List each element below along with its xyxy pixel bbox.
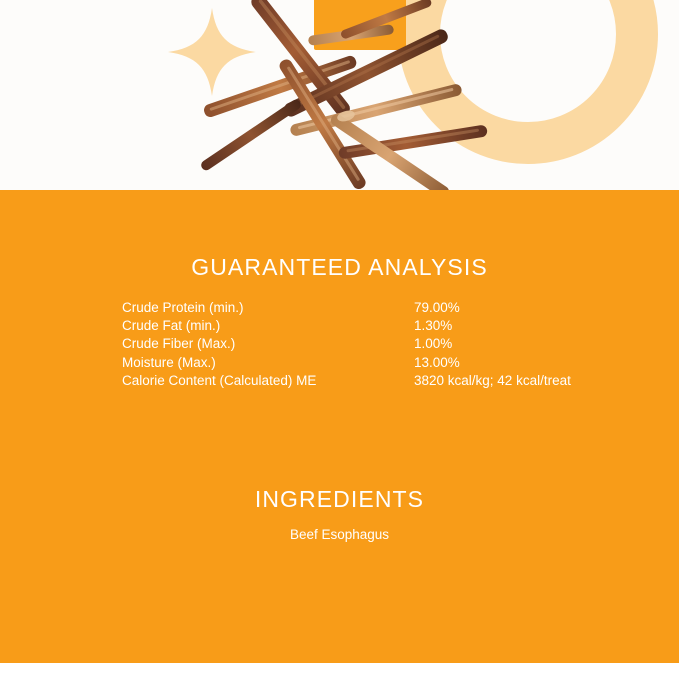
ingredients-list: Beef Esophagus (0, 527, 679, 542)
row-value: 13.00% (414, 355, 460, 370)
row-value: 3820 kcal/kg; 42 kcal/treat (414, 373, 571, 388)
product-detail-page: GUARANTEED ANALYSIS Crude Protein (min.)… (0, 0, 679, 679)
table-row: Moisture (Max.) 13.00% (122, 355, 642, 373)
row-label: Calorie Content (Calculated) ME (122, 373, 414, 388)
row-value: 79.00% (414, 300, 460, 315)
footer-strip (0, 663, 679, 679)
ingredients-heading: INGREDIENTS (0, 486, 679, 513)
guaranteed-analysis-table: Crude Protein (min.) 79.00% Crude Fat (m… (122, 300, 642, 391)
row-label: Crude Protein (min.) (122, 300, 414, 315)
guaranteed-analysis-heading: GUARANTEED ANALYSIS (0, 254, 679, 281)
table-row: Calorie Content (Calculated) ME 3820 kca… (122, 373, 642, 391)
table-row: Crude Fat (min.) 1.30% (122, 318, 642, 336)
nutrition-panel: GUARANTEED ANALYSIS Crude Protein (min.)… (0, 190, 679, 663)
row-label: Moisture (Max.) (122, 355, 414, 370)
beef-esophagus-sticks-photo (188, 0, 492, 218)
row-label: Crude Fat (min.) (122, 318, 414, 333)
row-value: 1.00% (414, 336, 452, 351)
table-row: Crude Fiber (Max.) 1.00% (122, 336, 642, 354)
row-label: Crude Fiber (Max.) (122, 336, 414, 351)
table-row: Crude Protein (min.) 79.00% (122, 300, 642, 318)
row-value: 1.30% (414, 318, 452, 333)
